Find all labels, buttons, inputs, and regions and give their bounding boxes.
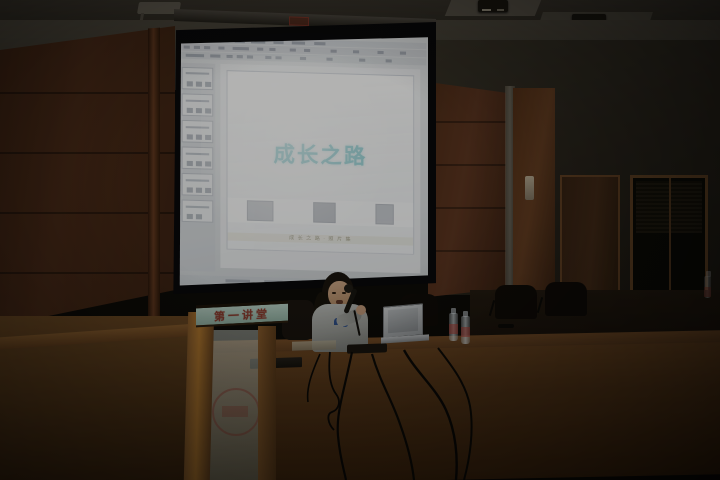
laptop-screen bbox=[388, 308, 418, 334]
thumb-image bbox=[196, 214, 202, 219]
chair[interactable] bbox=[495, 285, 537, 319]
chair[interactable] bbox=[545, 282, 587, 316]
font-name-combo[interactable] bbox=[186, 54, 204, 58]
ppt-status-bar bbox=[177, 275, 428, 288]
thumb-image bbox=[205, 188, 211, 193]
toolbar-button[interactable] bbox=[204, 46, 210, 49]
status-text bbox=[226, 279, 250, 283]
screen-border: 成长之路 成 长 之 路 · 照 片 集 bbox=[168, 22, 436, 294]
ceiling-speaker-icon bbox=[478, 0, 508, 12]
slide-thumbnail[interactable] bbox=[182, 67, 214, 90]
podium-right-edge bbox=[258, 326, 276, 480]
slide-photo bbox=[247, 200, 274, 221]
wood-pillar bbox=[148, 28, 160, 319]
thumb-image bbox=[205, 161, 211, 166]
bottle-label bbox=[461, 327, 470, 337]
toolbar-combo[interactable] bbox=[233, 47, 249, 51]
slide-thumbnail-panel[interactable] bbox=[177, 63, 216, 272]
bottle-label bbox=[704, 287, 711, 297]
presenter-eye bbox=[332, 292, 336, 294]
toolbar-button[interactable] bbox=[353, 50, 359, 53]
speaker-led-right bbox=[497, 9, 504, 11]
thumb-image bbox=[196, 135, 202, 140]
room-window bbox=[630, 175, 708, 295]
venue-sign-text: 第一讲堂 bbox=[214, 305, 270, 324]
powerpoint-window: 成长之路 成 长 之 路 · 照 片 集 bbox=[176, 36, 428, 288]
bold-button[interactable] bbox=[227, 55, 233, 58]
microphone-base bbox=[498, 324, 514, 328]
toolbar-button[interactable] bbox=[400, 52, 406, 55]
status-text bbox=[264, 280, 282, 284]
align-button[interactable] bbox=[265, 56, 271, 59]
menu-item[interactable] bbox=[235, 40, 245, 43]
menu-item[interactable] bbox=[216, 39, 228, 42]
speaker-led-left bbox=[482, 9, 491, 11]
menu-item[interactable] bbox=[314, 42, 325, 45]
menu-item[interactable] bbox=[273, 41, 283, 44]
slide-thumbnail[interactable] bbox=[182, 173, 214, 196]
toolbar-button[interactable] bbox=[304, 49, 310, 52]
color-button[interactable] bbox=[326, 58, 332, 61]
toolbar-button[interactable] bbox=[331, 50, 337, 53]
menu-item[interactable] bbox=[292, 41, 305, 44]
thumb-image bbox=[205, 135, 211, 140]
panel-groove bbox=[428, 164, 506, 166]
bottle-label bbox=[449, 324, 458, 334]
thumb-image bbox=[196, 108, 202, 113]
wall-sconce-light bbox=[525, 176, 534, 200]
toolbar-button[interactable] bbox=[377, 51, 383, 54]
thumb-line bbox=[186, 206, 209, 209]
thumb-line bbox=[186, 153, 209, 156]
thumb-image bbox=[187, 134, 193, 139]
desk-papers[interactable] bbox=[292, 340, 336, 351]
wood-panel-wall-right bbox=[428, 82, 506, 297]
italic-button[interactable] bbox=[237, 55, 243, 58]
slide-thumbnail[interactable] bbox=[182, 146, 214, 169]
menu-item[interactable] bbox=[200, 39, 210, 42]
align-button[interactable] bbox=[275, 56, 281, 59]
thumb-image bbox=[196, 82, 202, 87]
thumb-image bbox=[196, 161, 202, 166]
effect-button[interactable] bbox=[359, 59, 365, 62]
water-bottle[interactable] bbox=[461, 316, 470, 344]
podium-column bbox=[184, 312, 214, 480]
thumb-line bbox=[186, 100, 209, 103]
current-slide[interactable]: 成长之路 成 长 之 路 · 照 片 集 bbox=[227, 70, 415, 255]
list-button[interactable] bbox=[300, 57, 306, 60]
screen-surface: 成长之路 成 长 之 路 · 照 片 集 bbox=[176, 36, 428, 288]
toolbar-button[interactable] bbox=[218, 46, 224, 49]
slide-photo-strip bbox=[228, 198, 414, 228]
toolbar-button[interactable] bbox=[194, 46, 200, 49]
wood-panel-column bbox=[513, 88, 555, 293]
toolbar-button[interactable] bbox=[269, 48, 275, 51]
room-door[interactable] bbox=[560, 175, 620, 295]
toolbar-button[interactable] bbox=[257, 48, 263, 51]
institution-seal-icon bbox=[212, 388, 260, 436]
thumb-image bbox=[187, 187, 193, 192]
slide-thumbnail[interactable] bbox=[182, 199, 214, 222]
thumb-image bbox=[187, 161, 193, 166]
laptop[interactable] bbox=[381, 305, 429, 347]
laptop-lid bbox=[383, 303, 423, 338]
panel-groove bbox=[428, 121, 506, 123]
thumb-line bbox=[186, 72, 209, 75]
thumb-image bbox=[196, 188, 202, 193]
slide-photo bbox=[375, 204, 393, 225]
panel-groove bbox=[428, 207, 506, 209]
ppt-app-icon bbox=[183, 37, 186, 40]
projection-screen: 成长之路 成 长 之 路 · 照 片 集 bbox=[168, 14, 436, 294]
thumb-image bbox=[205, 82, 211, 87]
font-size-combo[interactable] bbox=[210, 54, 220, 57]
window-mullion bbox=[669, 178, 671, 292]
toolbar-button[interactable] bbox=[290, 48, 296, 51]
thumb-image bbox=[205, 108, 211, 113]
water-bottle[interactable] bbox=[704, 276, 711, 298]
menu-item[interactable] bbox=[251, 40, 265, 43]
thumb-image bbox=[187, 81, 193, 86]
thumb-image bbox=[187, 214, 193, 219]
thumb-line bbox=[186, 179, 209, 182]
slide-editing-canvas[interactable]: 成长之路 成 长 之 路 · 照 片 集 bbox=[220, 64, 420, 274]
underline-button[interactable] bbox=[247, 55, 253, 58]
slide-title: 成长之路 bbox=[273, 138, 367, 171]
slide-thumbnail[interactable] bbox=[182, 120, 214, 143]
slide-caption: 成 长 之 路 · 照 片 集 bbox=[228, 232, 414, 245]
panel-groove bbox=[428, 250, 506, 252]
lecture-hall-photo: 成长之路 成 长 之 路 · 照 片 集 bbox=[0, 0, 720, 480]
water-bottle[interactable] bbox=[449, 313, 458, 341]
effect-button[interactable] bbox=[386, 59, 392, 62]
thumb-line bbox=[186, 126, 209, 129]
slide-thumbnail[interactable] bbox=[182, 93, 214, 116]
venue-sign: 第一讲堂 bbox=[196, 301, 288, 328]
presenter-hand bbox=[356, 305, 366, 315]
thumb-image bbox=[187, 108, 193, 113]
toolbar-button[interactable] bbox=[184, 45, 190, 48]
slide-photo bbox=[313, 202, 335, 223]
screen-brand-label bbox=[289, 16, 309, 26]
